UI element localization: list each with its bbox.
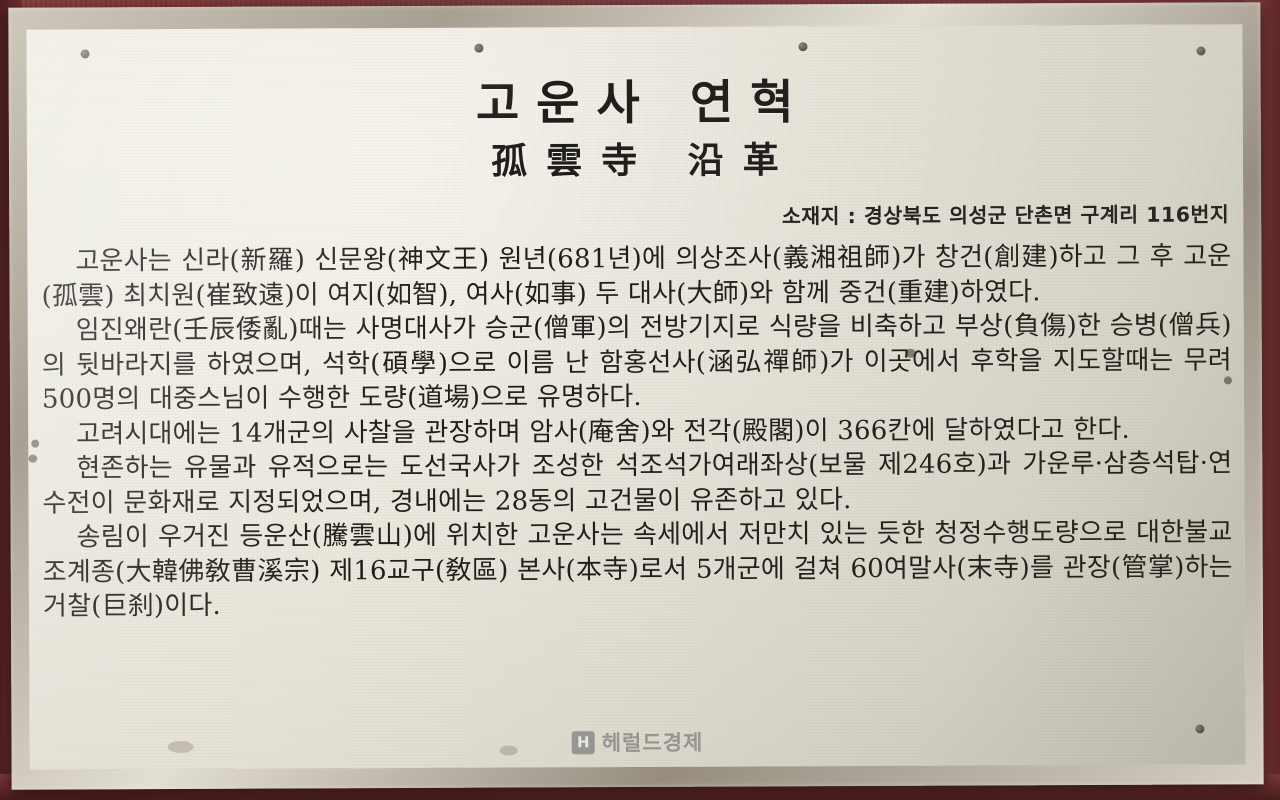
watermark-badge-icon: H <box>572 731 595 754</box>
photo-scene: 고운사 연혁 孤雲寺 沿革 소재지 : 경상북도 의성군 단촌면 구계리 116… <box>0 0 1280 800</box>
watermark-text: 헤럴드경제 <box>602 727 704 757</box>
location-line: 소재지 : 경상북도 의성군 단촌면 구계리 116번지 <box>27 198 1243 233</box>
paragraph-present-day: 송림이 우거진 등운산(騰雲山)에 위치한 고운사는 속세에서 저만치 있는 듯… <box>43 516 1233 625</box>
sign-panel-area: 고운사 연혁 孤雲寺 沿革 소재지 : 경상북도 의성군 단촌면 구계리 116… <box>26 24 1245 769</box>
sign-content: 고운사 연혁 孤雲寺 沿革 소재지 : 경상북도 의성군 단촌면 구계리 116… <box>26 24 1245 769</box>
page-title-hanja: 孤雲寺 沿革 <box>27 130 1243 187</box>
paragraph-imjin-war: 임진왜란(壬辰倭亂)때는 사명대사가 승군(僧軍)의 전방기지로 식량을 비축하… <box>42 309 1232 418</box>
watermark: H 헤럴드경제 <box>572 727 704 758</box>
paragraph-founding: 고운사는 신라(新羅) 신문왕(神文王) 원년(681년)에 의상조사(義湘祖師… <box>41 240 1231 314</box>
paragraph-goryeo: 고려시대에는 14개군의 사찰을 관장하며 암사(庵舍)와 전각(殿閣)이 36… <box>42 412 1232 452</box>
page-title: 고운사 연혁 <box>27 76 1243 131</box>
sign-metal-frame: 고운사 연혁 孤雲寺 沿革 소재지 : 경상북도 의성군 단촌면 구계리 116… <box>8 2 1263 789</box>
history-body: 고운사는 신라(新羅) 신문왕(神文王) 원년(681년)에 의상조사(義湘祖師… <box>27 240 1245 625</box>
paragraph-relics: 현존하는 유물과 유적으로는 도선국사가 조성한 석조석가여래좌상(보물 제24… <box>42 447 1232 521</box>
title-block: 고운사 연혁 孤雲寺 沿革 <box>27 76 1243 187</box>
